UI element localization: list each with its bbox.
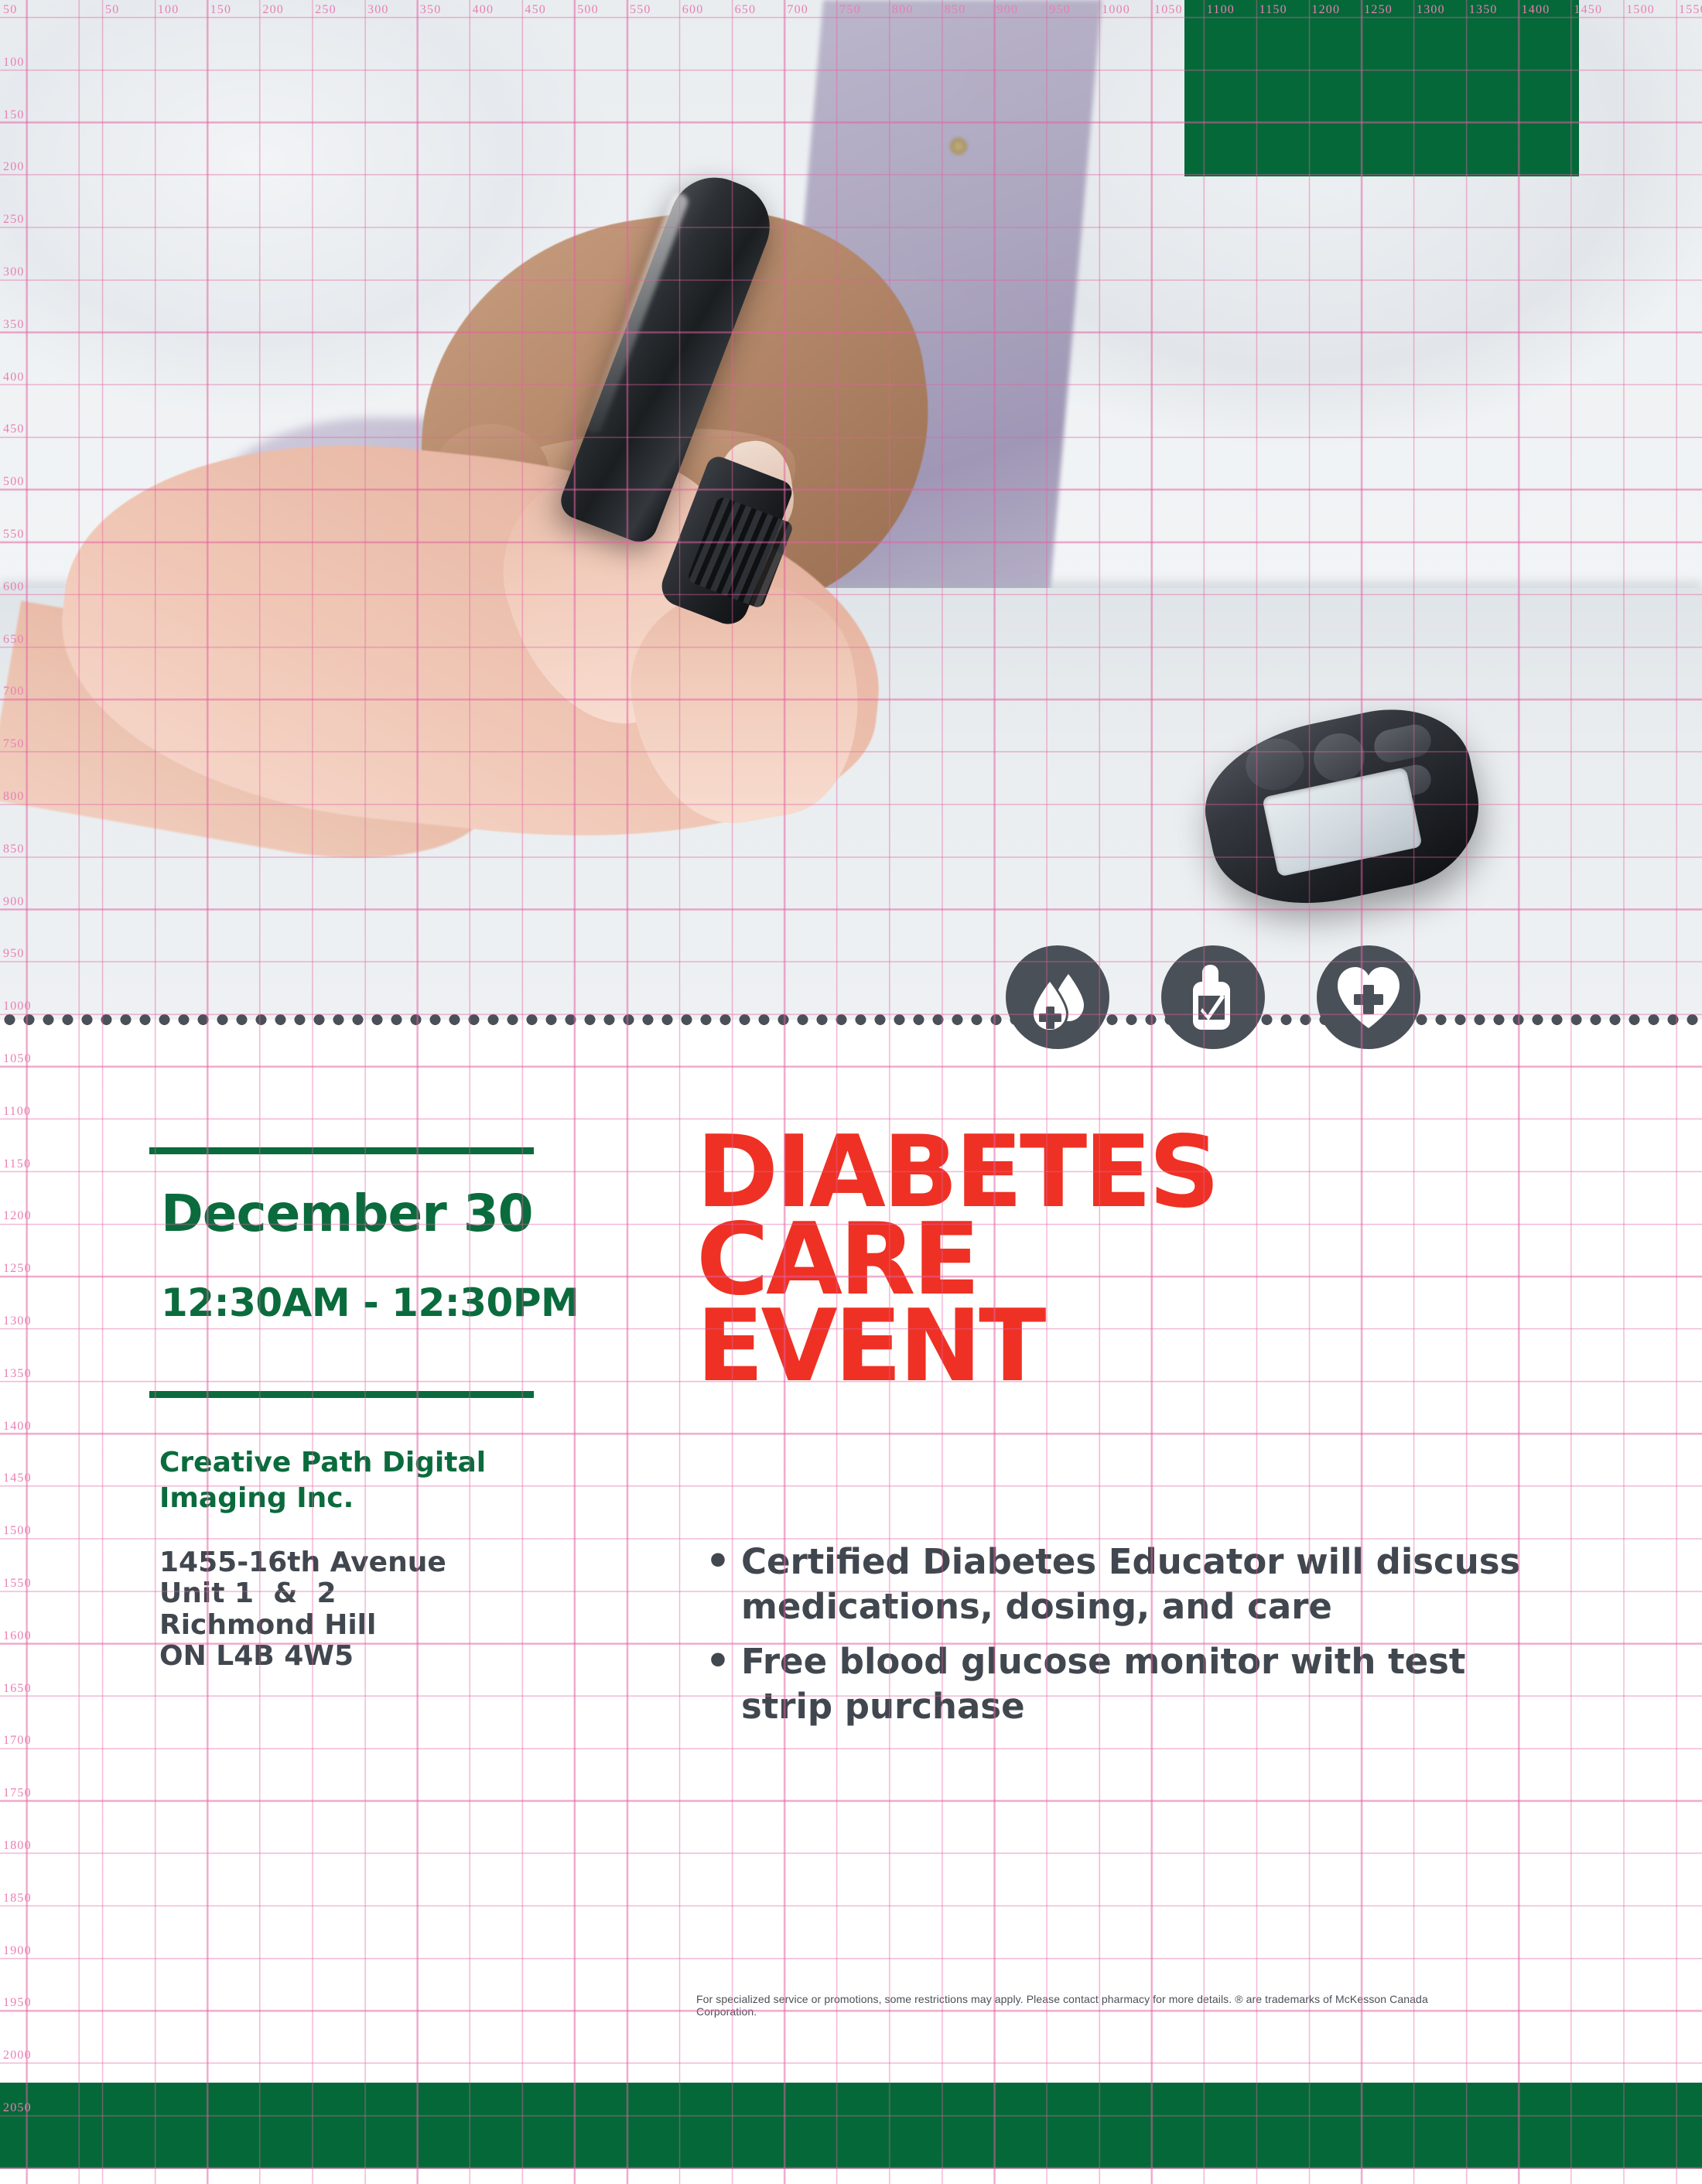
grid-label-left: 1500 [3, 1524, 32, 1538]
glucose-meter-check-icon [1161, 945, 1265, 1049]
event-benefits-list: Certified Diabetes Educator will discuss… [696, 1540, 1563, 1739]
poster-canvas: Guardian ® [0, 0, 1702, 2184]
grid-label-left: 1100 [3, 1105, 31, 1119]
address-line-1: 1455-16th Avenue [159, 1547, 515, 1578]
grid-label-left: 1400 [3, 1420, 32, 1434]
grid-label-left: 1350 [3, 1367, 32, 1381]
grid-label-left: 2000 [3, 2049, 32, 2063]
bottom-divider-rule [149, 1391, 534, 1398]
grid-label-left: 1650 [3, 1682, 32, 1696]
grid-label-left: 1850 [3, 1892, 32, 1905]
organization-name: Creative Path Digital Imaging Inc. [159, 1445, 492, 1516]
event-address: 1455-16th Avenue Unit 1 & 2 Richmond Hil… [159, 1547, 515, 1672]
list-item: Certified Diabetes Educator will discuss… [696, 1540, 1563, 1629]
footer-green-bar [0, 2083, 1702, 2169]
dotted-divider [0, 1014, 1702, 1025]
address-line-4: ON L4B 4W5 [159, 1641, 515, 1672]
address-line-3: Richmond Hill [159, 1610, 515, 1641]
grid-label-left: 1900 [3, 1944, 32, 1958]
event-date: December 30 [161, 1184, 625, 1243]
grid-label-left: 1150 [3, 1157, 31, 1171]
list-item: Free blood glucose monitor with test str… [696, 1639, 1563, 1728]
page-title: DIABETES CARE EVENT [696, 1130, 1563, 1391]
top-divider-rule [149, 1147, 534, 1154]
address-line-2: Unit 1 & 2 [159, 1578, 515, 1609]
grid-label-left: 1250 [3, 1262, 32, 1276]
grid-label-left: 1600 [3, 1629, 32, 1643]
grid-label-left: 1450 [3, 1471, 32, 1485]
guardian-logo[interactable]: Guardian ® [1184, 0, 1579, 176]
coat-button [950, 138, 967, 155]
grid-label-left: 1300 [3, 1314, 32, 1328]
grid-label-left: 1200 [3, 1209, 32, 1223]
legal-disclaimer: For specialized service or promotions, s… [696, 1993, 1470, 2018]
grid-label-left: 1050 [3, 1052, 32, 1066]
grid-label-left: 1550 [3, 1577, 32, 1591]
service-icon-row [1006, 945, 1420, 1049]
heart-plus-icon [1317, 945, 1420, 1049]
blood-drop-plus-icon [1006, 945, 1109, 1049]
headline-line-3: EVENT [696, 1304, 1563, 1391]
event-time-range: 12:30AM - 12:30PM [161, 1280, 641, 1325]
grid-label-left: 1700 [3, 1734, 32, 1748]
footer-white-strip [0, 2169, 1702, 2184]
grid-label-left: 1800 [3, 1839, 32, 1853]
grid-label-left: 1750 [3, 1786, 32, 1800]
grid-label-left: 1950 [3, 1996, 32, 2010]
